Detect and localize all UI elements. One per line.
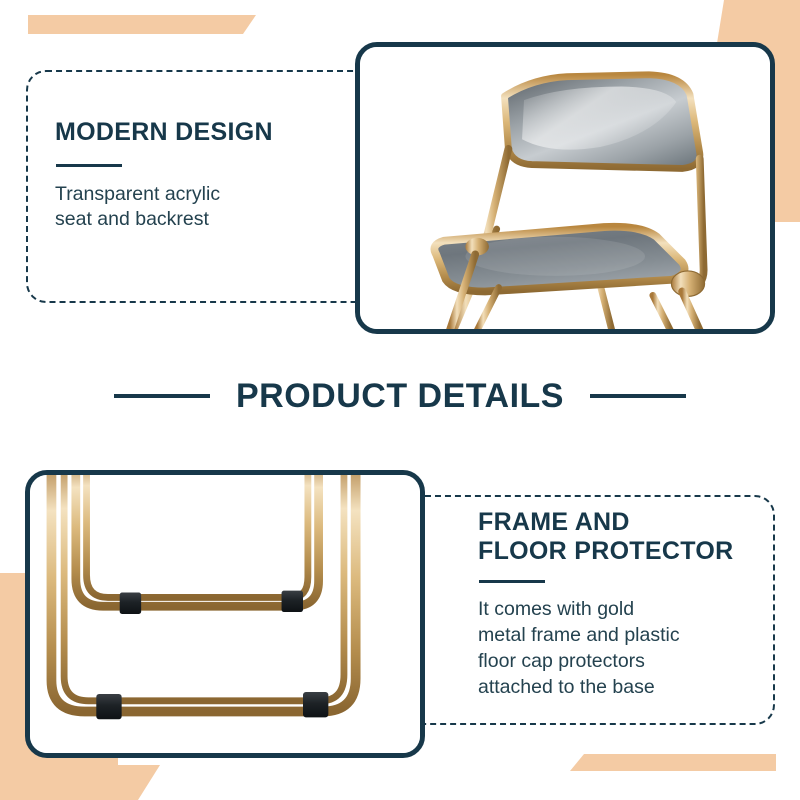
peach-accent-bottom-left-tail — [100, 765, 160, 800]
feature-headline-line: FLOOR PROTECTOR — [478, 537, 768, 566]
feature-body-line: It comes with gold — [478, 597, 768, 623]
feature-text-frame-protector: FRAME AND FLOOR PROTECTOR It comes with … — [478, 508, 768, 701]
feature-body-line: Transparent acrylic — [55, 182, 355, 208]
headline-divider — [479, 580, 545, 583]
feature-body: It comes with gold metal frame and plast… — [478, 597, 768, 701]
feature-body-line: seat and backrest — [55, 207, 355, 233]
title-rule-left — [114, 394, 210, 398]
folding-chair-illustration — [360, 47, 770, 329]
feature-body-line: attached to the base — [478, 675, 768, 701]
feature-body: Transparent acrylic seat and backrest — [55, 182, 355, 234]
floor-cap-protector — [303, 692, 328, 717]
feature-body-line: floor cap protectors — [478, 649, 768, 675]
feature-headline-line: FRAME AND — [478, 508, 768, 537]
headline-divider — [56, 164, 122, 167]
title-rule-right — [590, 394, 686, 398]
floor-cap-protector — [96, 694, 121, 719]
photo-frame-base — [25, 470, 425, 758]
section-title-row: PRODUCT DETAILS — [0, 368, 800, 424]
feature-body-line: metal frame and plastic — [478, 623, 768, 649]
peach-accent-top-left — [28, 15, 256, 34]
frame-base-illustration — [30, 475, 420, 753]
infographic-page: MODERN DESIGN Transparent acrylic seat a… — [0, 0, 800, 800]
feature-text-modern-design: MODERN DESIGN Transparent acrylic seat a… — [55, 118, 355, 233]
page-title: PRODUCT DETAILS — [236, 377, 564, 416]
peach-accent-bottom-right — [570, 754, 776, 771]
feature-headline: MODERN DESIGN — [55, 118, 355, 147]
floor-cap-protector — [120, 593, 141, 614]
photo-folding-chair — [355, 42, 775, 334]
floor-cap-protector — [282, 591, 303, 612]
feature-headline: FRAME AND FLOOR PROTECTOR — [478, 508, 768, 565]
